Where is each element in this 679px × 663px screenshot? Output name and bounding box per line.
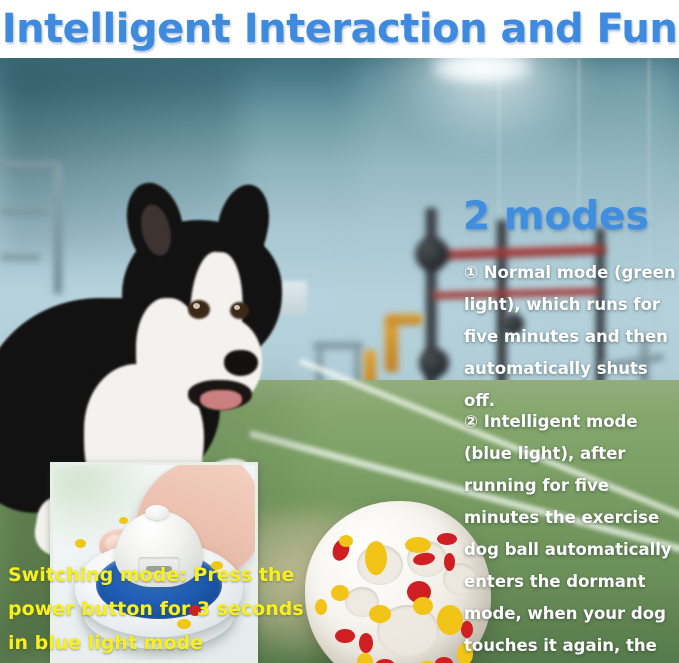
dog-tongue: [200, 390, 242, 410]
ball-spot-red: [437, 533, 457, 545]
equipment-pole: [385, 320, 398, 372]
ball-spot-red: [335, 629, 355, 643]
mode-description-normal: ① Normal mode (green light), which runs …: [464, 257, 676, 417]
ball-spot-yellow: [315, 599, 327, 615]
ball-spot-yellow: [405, 537, 431, 553]
ball-spot-red: [435, 657, 453, 663]
mode-description-intelligent: ② Intelligent mode (blue light), after r…: [464, 406, 676, 663]
inset-caption-line: Switching mode: Press the: [8, 558, 308, 592]
ball-spot-yellow: [369, 605, 391, 623]
inset-caption-line: in blue light mode: [8, 626, 308, 660]
dog-eye-highlight: [234, 305, 240, 310]
ball-spot-yellow: [357, 653, 373, 663]
ball-spot-red: [375, 659, 395, 663]
ball-spot-red: [359, 633, 373, 653]
dog-eye-right: [230, 302, 249, 319]
page-title: Intelligent Interaction and Fun: [2, 6, 678, 52]
ball-spot-yellow: [365, 541, 387, 575]
modes-heading: 2 modes: [463, 194, 649, 239]
ball-spot-yellow: [413, 597, 433, 615]
dog-eye-highlight: [193, 303, 200, 309]
inset-caption-line: power button for 3 seconds: [8, 592, 308, 626]
shell-spot-yellow: [75, 539, 86, 548]
dog-eye-left: [188, 300, 210, 319]
ceiling-light-fixture: [432, 58, 532, 84]
weight-plate: [419, 348, 449, 378]
title-banner: Intelligent Interaction and Fun: [0, 0, 679, 58]
power-button[interactable]: [145, 505, 169, 520]
ball-spot-red: [444, 553, 455, 571]
ball-spot-yellow: [437, 605, 463, 635]
ball-spot-yellow: [339, 535, 353, 547]
equipment-pole-top: [385, 314, 423, 325]
photo-stage: Switching mode: Press the power button f…: [0, 58, 679, 663]
shell-spot-yellow: [119, 517, 128, 524]
product-feature-image: Intelligent Interaction and Fun: [0, 0, 679, 663]
inset-caption: Switching mode: Press the power button f…: [8, 558, 308, 660]
ball-spot-yellow: [331, 585, 349, 601]
dog-nose: [224, 350, 258, 376]
weight-plate: [415, 237, 449, 271]
